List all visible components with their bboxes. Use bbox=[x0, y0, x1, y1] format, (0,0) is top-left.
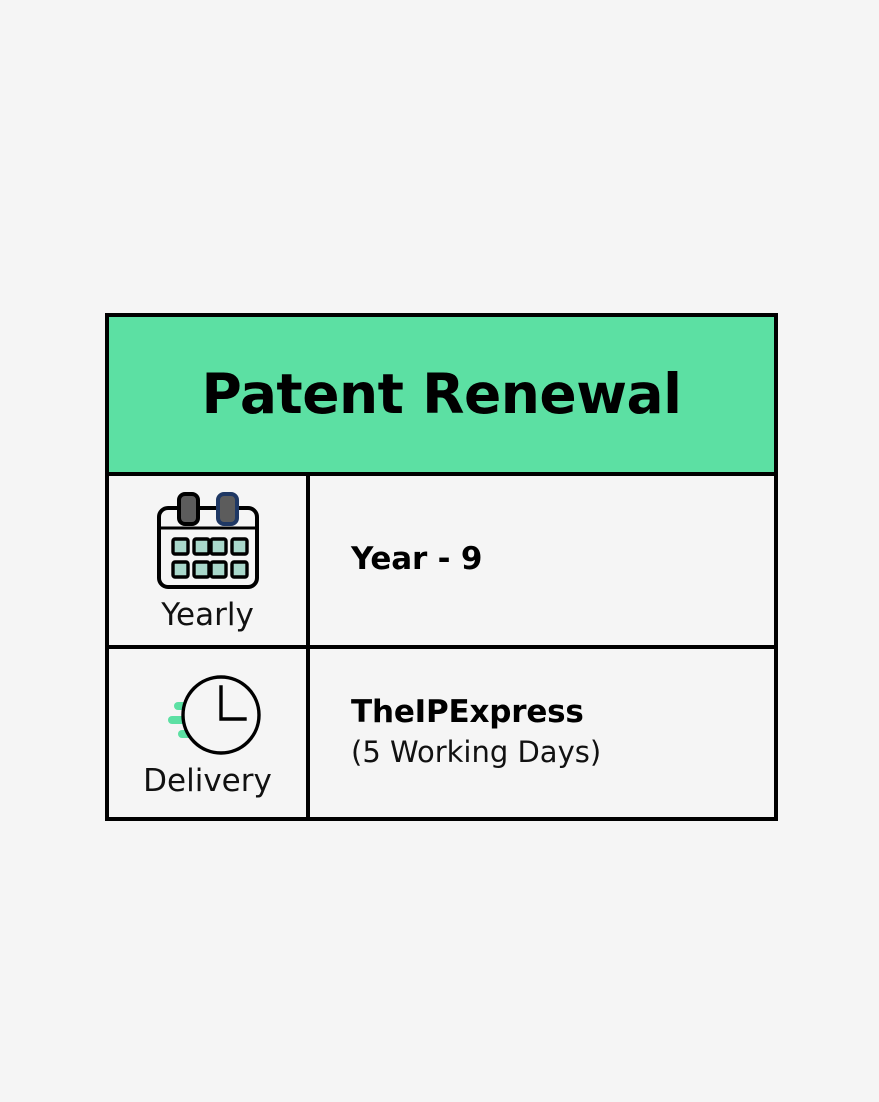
table-row: Yearly Year - 9 bbox=[109, 476, 774, 645]
row-primary-text: TheIPExpress bbox=[351, 695, 754, 731]
row-content-cell-year: Year - 9 bbox=[310, 476, 774, 645]
page-title: Patent Renewal bbox=[201, 367, 681, 422]
delivery-clock-icon bbox=[152, 672, 264, 758]
row-secondary-text: (5 Working Days) bbox=[351, 734, 754, 770]
row-icon-cell-delivery: Delivery bbox=[109, 649, 310, 818]
row-icon-label: Yearly bbox=[161, 598, 254, 632]
row-content-cell-delivery: TheIPExpress (5 Working Days) bbox=[310, 649, 774, 818]
card-header: Patent Renewal bbox=[109, 317, 774, 476]
row-primary-text: Year - 9 bbox=[351, 542, 754, 578]
product-card: Patent Renewal bbox=[105, 313, 778, 821]
row-icon-label: Delivery bbox=[143, 764, 272, 798]
row-icon-cell-yearly: Yearly bbox=[109, 476, 310, 645]
table-row: Delivery TheIPExpress (5 Working Days) bbox=[109, 645, 774, 818]
calendar-icon bbox=[156, 492, 260, 592]
